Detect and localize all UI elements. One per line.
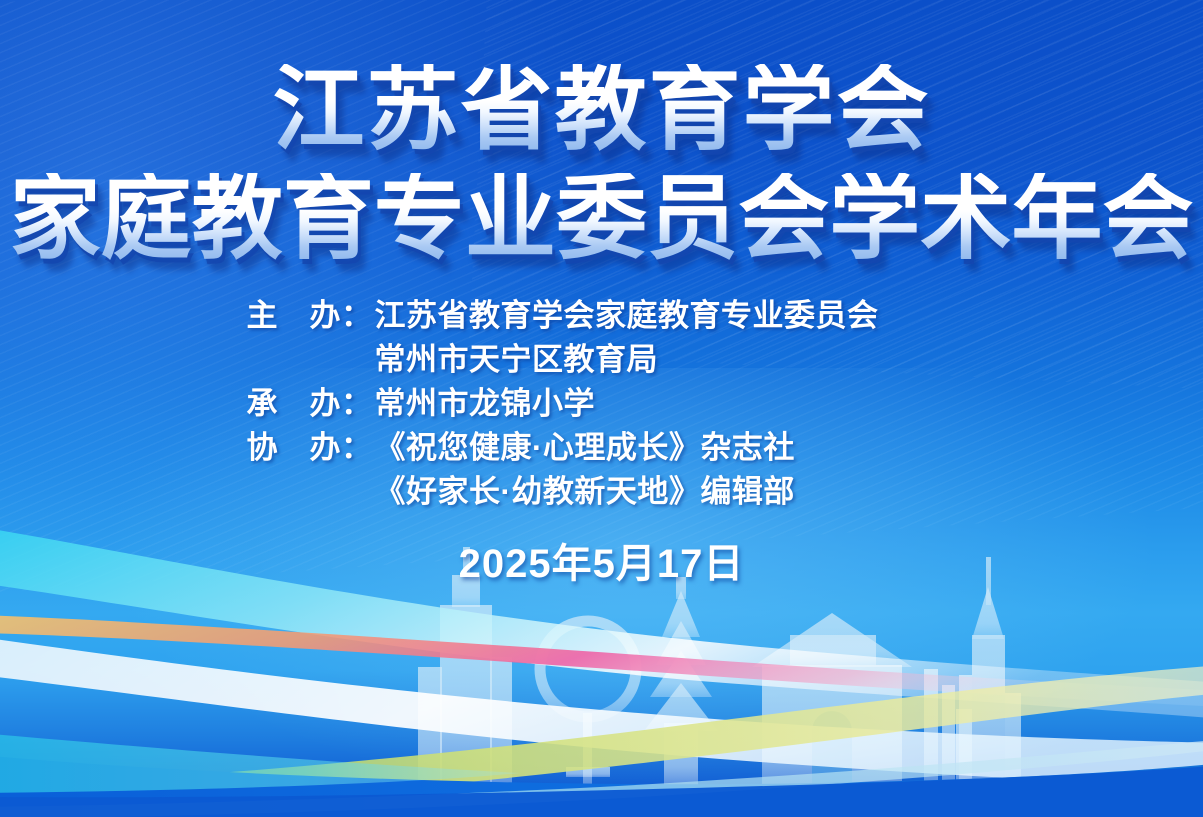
credit-row: 承 办： 常州市龙锦小学 <box>247 382 957 426</box>
credit-row: 协 办： 《好家长·幼教新天地》编辑部 <box>247 470 957 514</box>
credit-row: 协 办： 《祝您健康·心理成长》杂志社 <box>247 426 957 470</box>
conference-poster: 江苏省教育学会 家庭教育专业委员会学术年会 主 办： 江苏省教育学会家庭教育专业… <box>0 0 1203 817</box>
poster-title-line-2: 家庭教育专业委员会学术年会 <box>6 173 1197 265</box>
credit-value: 常州市天宁区教育局 <box>375 338 957 382</box>
credit-value: 《好家长·幼教新天地》编辑部 <box>375 470 957 514</box>
event-date: 2025年5月17日 <box>0 531 1203 589</box>
credit-row: 主 办： 江苏省教育学会家庭教育专业委员会 <box>247 294 957 338</box>
credit-value: 《祝您健康·心理成长》杂志社 <box>375 426 957 470</box>
credit-label: 主 办： <box>247 294 375 338</box>
credit-row: 主 办： 常州市天宁区教育局 <box>247 338 957 382</box>
credit-label: 协 办： <box>247 426 375 470</box>
poster-title-line-1: 江苏省教育学会 <box>0 64 1203 156</box>
credit-label: 承 办： <box>247 382 375 426</box>
credit-value: 江苏省教育学会家庭教育专业委员会 <box>375 294 957 338</box>
credit-value: 常州市龙锦小学 <box>375 382 957 426</box>
poster-content: 江苏省教育学会 家庭教育专业委员会学术年会 主 办： 江苏省教育学会家庭教育专业… <box>0 0 1203 817</box>
credits-block: 主 办： 江苏省教育学会家庭教育专业委员会 主 办： 常州市天宁区教育局 承 办… <box>0 294 1203 514</box>
